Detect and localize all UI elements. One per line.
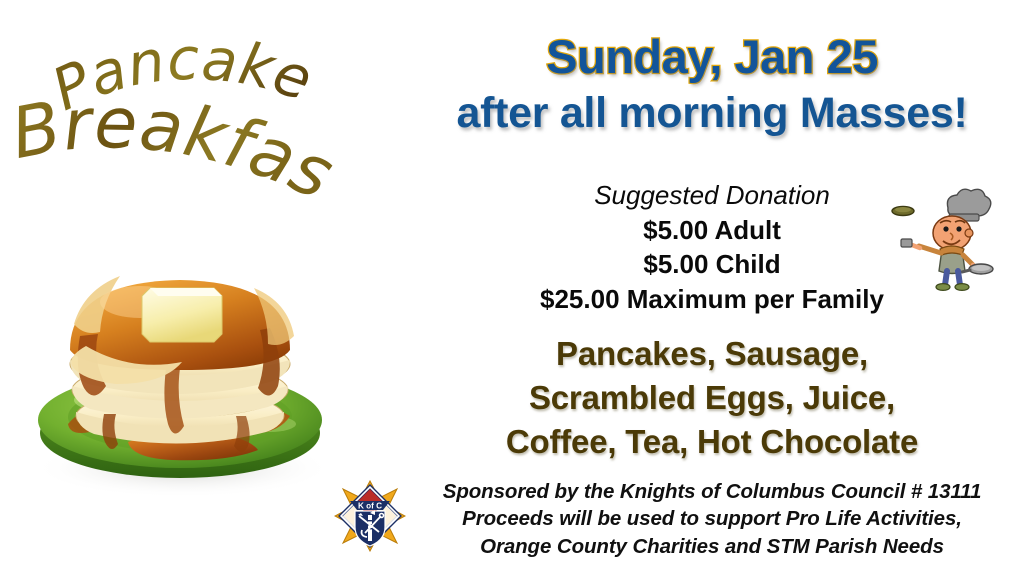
sponsor-row-2: Proceeds will be used to support Pro Lif…: [400, 505, 1024, 532]
sponsor-row-1: Sponsored by the Knights of Columbus Cou…: [400, 478, 1024, 505]
menu-row-2: Scrambled Eggs, Juice,: [400, 376, 1024, 420]
event-headline: Sunday, Jan 25 after all morning Masses!: [400, 32, 1024, 136]
pancake-breakfast-flyer: Pancake Breakfast: [0, 0, 1024, 576]
chef-flipping-pancake-icon: [890, 186, 994, 294]
sponsor-row-3: Orange County Charities and STM Parish N…: [400, 533, 1024, 560]
menu-row-1: Pancakes, Sausage,: [400, 332, 1024, 376]
kofc-text: K of C: [358, 502, 382, 511]
pancake-stack-illustration: [8, 228, 353, 508]
headline-date: Sunday, Jan 25: [400, 32, 1024, 81]
menu-block: Pancakes, Sausage, Scrambled Eggs, Juice…: [400, 332, 1024, 465]
pancake-breakfast-logo: Pancake Breakfast: [0, 28, 400, 228]
headline-time: after all morning Masses!: [400, 91, 1024, 136]
knights-of-columbus-emblem-icon: K of C: [334, 480, 406, 552]
menu-row-3: Coffee, Tea, Hot Chocolate: [400, 420, 1024, 464]
sponsor-block: Sponsored by the Knights of Columbus Cou…: [400, 478, 1024, 560]
